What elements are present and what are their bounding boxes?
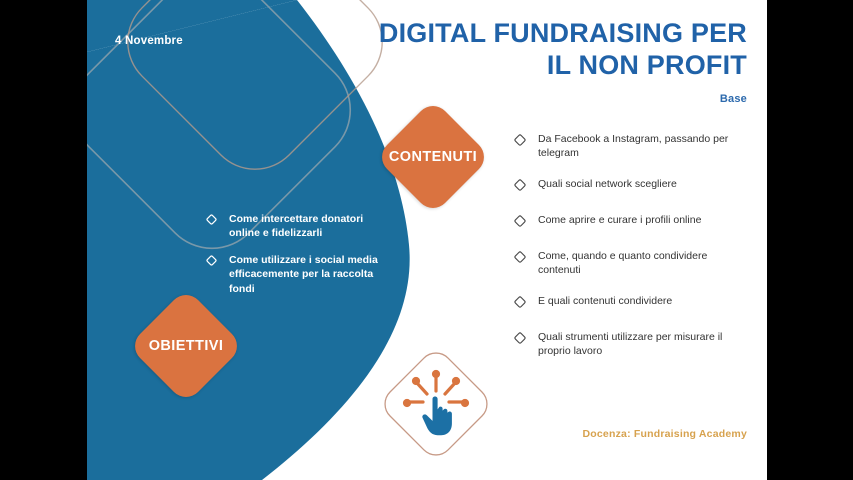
list-item-label: Come utilizzare i social media efficacem… — [229, 253, 390, 296]
badge-contenuti[interactable]: CONTENUTI — [392, 116, 474, 198]
diamond-outline-icon — [513, 133, 527, 152]
badge-obiettivi[interactable]: OBIETTIVI — [145, 305, 227, 387]
presentation-slide: 4 Novembre DIGITAL FUNDRAISING PER IL NO… — [87, 0, 767, 480]
diamond-outline-icon — [205, 213, 218, 231]
hand-click-icon — [377, 345, 495, 463]
diamond-outline-icon — [513, 178, 527, 197]
badge-obiettivi-label: OBIETTIVI — [149, 338, 224, 354]
diamond-outline-icon — [513, 250, 527, 269]
diamond-outline-icon — [205, 254, 218, 272]
list-item-label: Come, quando e quanto condividere conten… — [538, 249, 748, 278]
objectives-list: Come intercettare donatori online e fide… — [205, 212, 390, 308]
list-item-label: Da Facebook a Instagram, passando per te… — [538, 132, 748, 161]
list-item: Come utilizzare i social media efficacem… — [205, 253, 390, 296]
list-item: Da Facebook a Instagram, passando per te… — [513, 132, 748, 161]
list-item-label: E quali contenuti condividere — [538, 294, 672, 308]
contents-list: Da Facebook a Instagram, passando per te… — [513, 132, 748, 375]
list-item: Come, quando e quanto condividere conten… — [513, 249, 748, 278]
list-item-label: Come intercettare donatori online e fide… — [229, 212, 390, 241]
page-title-line-2: IL NON PROFIT — [345, 50, 747, 82]
list-item: Come intercettare donatori online e fide… — [205, 212, 390, 241]
screenshot-root: 4 Novembre DIGITAL FUNDRAISING PER IL NO… — [0, 0, 853, 480]
date-label: 4 Novembre — [115, 35, 183, 47]
list-item: Come aprire e curare i profili online — [513, 213, 748, 233]
letterbox-right — [767, 0, 853, 480]
title-block: DIGITAL FUNDRAISING PER IL NON PROFIT Ba… — [345, 18, 747, 105]
list-item: Quali social network scegliere — [513, 177, 748, 197]
letterbox-left — [0, 0, 87, 480]
diamond-outline-icon — [513, 331, 527, 350]
footer-credit: Docenza: Fundraising Academy — [417, 428, 747, 440]
list-item-label: Come aprire e curare i profili online — [538, 213, 701, 227]
diamond-outline-icon — [513, 295, 527, 314]
list-item-label: Quali strumenti utilizzare per misurare … — [538, 330, 748, 359]
list-item: E quali contenuti condividere — [513, 294, 748, 314]
badge-contenuti-label: CONTENUTI — [389, 149, 477, 165]
list-item: Quali strumenti utilizzare per misurare … — [513, 330, 748, 359]
subtitle-badge: Base — [345, 93, 747, 105]
diamond-outline-icon — [513, 214, 527, 233]
page-title-line-1: DIGITAL FUNDRAISING PER — [345, 18, 747, 50]
list-item-label: Quali social network scegliere — [538, 177, 677, 191]
